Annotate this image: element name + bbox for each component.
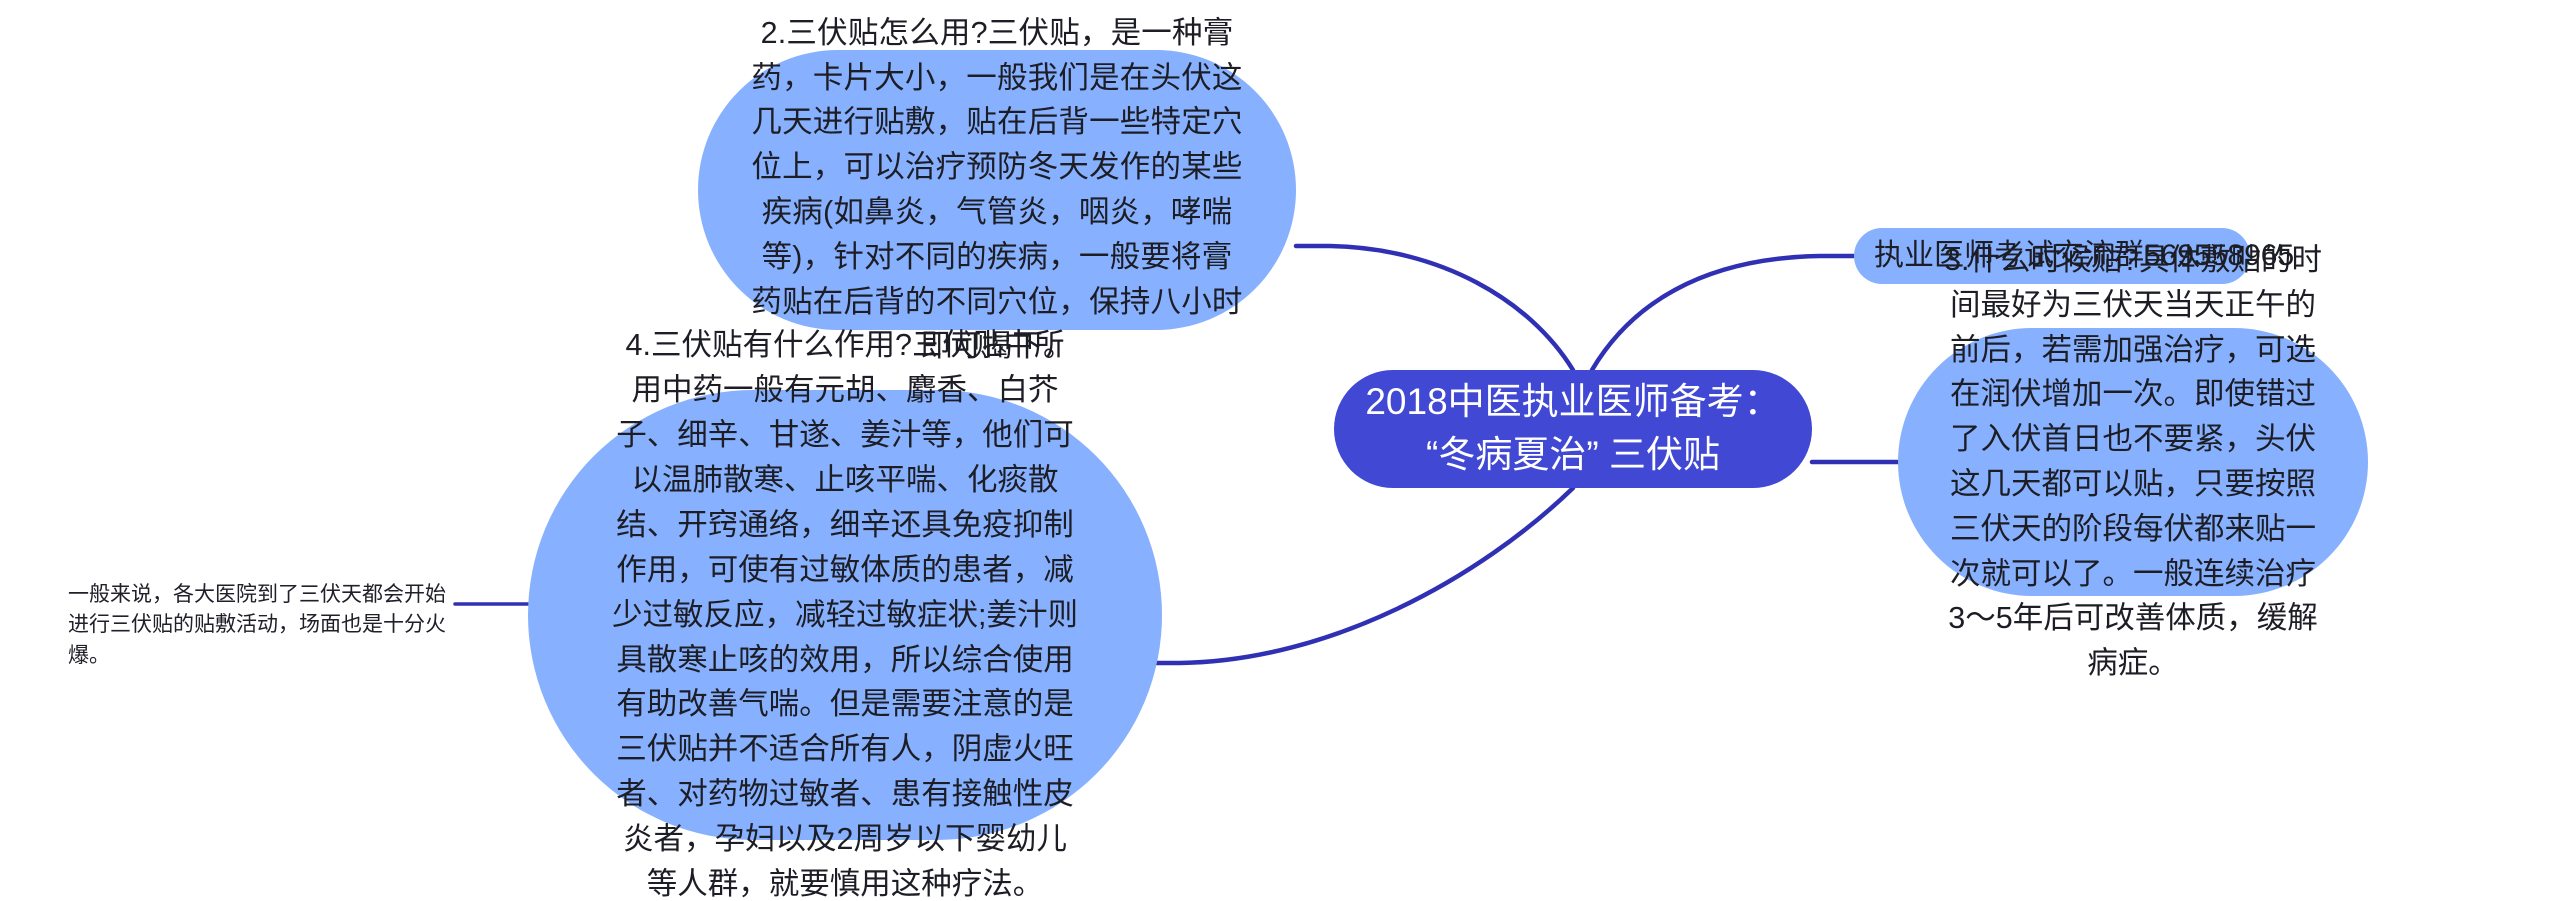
node-when[interactable]: 3.什么时候贴?具体敷贴的时间最好为三伏天当天正午的前后，若需加强治疗，可选在润…	[1898, 328, 2368, 596]
node-caption-label: 一般来说，各大医院到了三伏天都会开始进行三伏贴的贴敷活动，场面也是十分火爆。	[68, 580, 460, 671]
node-effect-label: 4.三伏贴有什么作用?三伏贴中所用中药一般有元胡、麝香、白芥子、细辛、甘遂、姜汁…	[612, 323, 1078, 901]
mindmap-canvas: 2.三伏贴怎么用?三伏贴，是一种膏药，卡片大小，一般我们是在头伏这几天进行贴敷，…	[0, 0, 2560, 901]
connector-howto-to-center	[1296, 246, 1573, 370]
node-howto-label: 2.三伏贴怎么用?三伏贴，是一种膏药，卡片大小，一般我们是在头伏这几天进行贴敷，…	[750, 11, 1244, 370]
node-when-label: 3.什么时候贴?具体敷贴的时间最好为三伏天当天正午的前后，若需加强治疗，可选在润…	[1942, 238, 2324, 686]
connector-effect-to-center	[1145, 488, 1573, 663]
connector-group-to-center	[1592, 256, 1854, 370]
node-center[interactable]: 2018中医执业医师备考： “冬病夏治” 三伏贴	[1334, 370, 1812, 488]
node-center-label: 2018中医执业医师备考： “冬病夏治” 三伏贴	[1364, 376, 1782, 481]
node-howto[interactable]: 2.三伏贴怎么用?三伏贴，是一种膏药，卡片大小，一般我们是在头伏这几天进行贴敷，…	[698, 50, 1296, 330]
node-caption: 一般来说，各大医院到了三伏天都会开始进行三伏贴的贴敷活动，场面也是十分火爆。	[68, 580, 460, 642]
node-effect[interactable]: 4.三伏贴有什么作用?三伏贴中所用中药一般有元胡、麝香、白芥子、细辛、甘遂、姜汁…	[528, 390, 1162, 840]
